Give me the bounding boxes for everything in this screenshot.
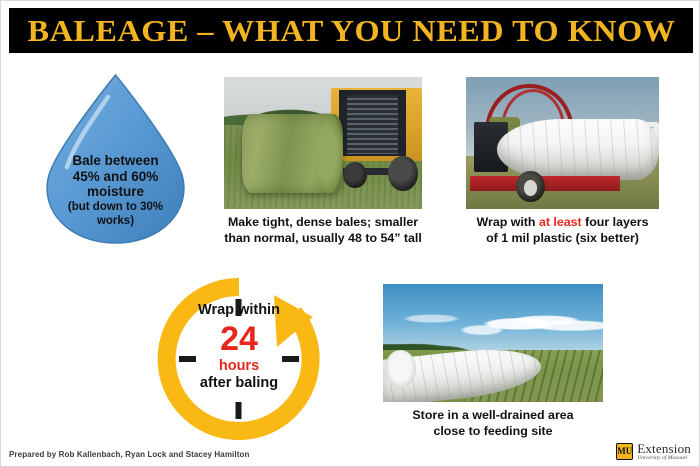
- droplet-line-4: (but down to 30%: [46, 201, 185, 214]
- caption-highlight: at least: [539, 215, 582, 229]
- mu-logo-letters: MU: [617, 447, 632, 456]
- caption-line-1-pre: Wrap with: [477, 215, 539, 229]
- clock-line-bottom: after baling: [175, 376, 303, 392]
- photo-baler-steps: [347, 95, 398, 153]
- photo-bale-wrapper: [466, 77, 659, 209]
- clock-text-block: Wrap within 24 hours after baling: [175, 303, 303, 392]
- photo-bale-end: [315, 114, 343, 193]
- caption-line-2: than normal, usually 48 to 54” tall: [224, 231, 422, 245]
- wrap-within-24-hours-clock: Wrap within 24 hours after baling: [153, 273, 325, 445]
- photo-wheel-hub: [524, 180, 538, 196]
- caption-line-1: Make tight, dense bales; smaller: [228, 215, 418, 229]
- droplet-line-1: Bale between: [46, 153, 185, 169]
- caption-line-2: of 1 mil plastic (six better): [486, 231, 639, 245]
- credits-text: Prepared by Rob Kallenbach, Ryan Lock an…: [9, 450, 249, 459]
- mu-logo-icon: MU: [616, 443, 633, 460]
- logo-wordmark: Extension University of Missouri: [637, 442, 691, 462]
- caption-line-2: close to feeding site: [433, 424, 552, 438]
- photo-red-trailer: [470, 176, 621, 191]
- logo-university-text: University of Missouri: [637, 456, 691, 462]
- droplet-line-3: moisture: [46, 184, 185, 200]
- photo-hay-bale: [224, 77, 422, 209]
- logo-extension-text: Extension: [637, 442, 691, 455]
- caption-hay-bale: Make tight, dense bales; smaller than no…: [224, 215, 422, 247]
- clock-number: 24: [175, 322, 303, 358]
- page-title: BALEAGE – WHAT YOU NEED TO KNOW: [27, 15, 675, 46]
- droplet-text-block: Bale between 45% and 60% moisture (but d…: [46, 153, 185, 229]
- photo-baler-wheel-rear: [388, 156, 418, 190]
- caption-line-1-post: four layers: [582, 215, 649, 229]
- title-banner: BALEAGE – WHAT YOU NEED TO KNOW: [9, 8, 693, 53]
- clock-line-top: Wrap within: [175, 303, 303, 319]
- photo-bag-end: [385, 350, 416, 388]
- clock-unit: hours: [175, 359, 303, 375]
- mu-extension-logo: MU Extension University of Missouri: [616, 442, 691, 462]
- photo-baler-wheel-front: [343, 162, 367, 188]
- photo-silage-bag: [383, 284, 603, 402]
- moisture-droplet-callout: Bale between 45% and 60% moisture (but d…: [34, 71, 197, 251]
- infographic-poster: BALEAGE – WHAT YOU NEED TO KNOW Bale bet…: [0, 0, 700, 467]
- caption-silage-bag: Store in a well-drained area close to fe…: [383, 408, 603, 440]
- photo-tube-ribs: [497, 119, 659, 180]
- droplet-line-5: works): [46, 215, 185, 228]
- photo-block-silage-bag: Store in a well-drained area close to fe…: [383, 284, 603, 440]
- photo-block-bale-wrapper: Wrap with at least four layers of 1 mil …: [466, 77, 659, 247]
- photo-round-bale: [242, 114, 343, 193]
- caption-bale-wrapper: Wrap with at least four layers of 1 mil …: [466, 215, 659, 247]
- droplet-line-2: 45% and 60%: [46, 169, 185, 185]
- caption-line-1: Store in a well-drained area: [412, 408, 573, 422]
- photo-block-hay-bale: Make tight, dense bales; smaller than no…: [224, 77, 422, 247]
